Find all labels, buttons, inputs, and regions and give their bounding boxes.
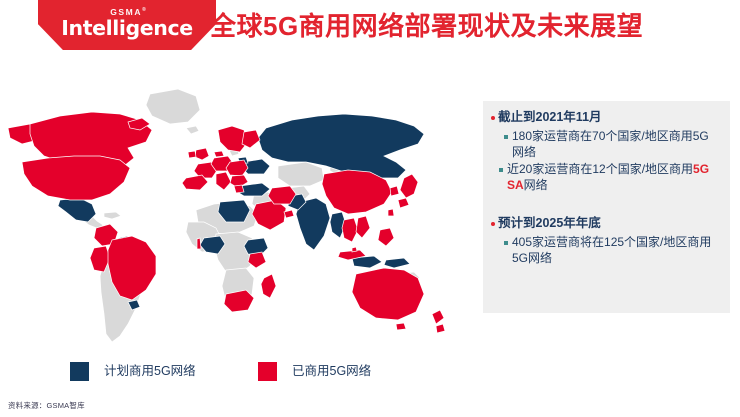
list-item: 近20家运营商在12个国家/地区商用5G SA网络 <box>491 162 720 193</box>
world-map <box>0 62 455 352</box>
stat-operators-2025: 405家运营商将在125个国家/地区商用5G网络 <box>512 235 720 266</box>
slide-root: GSMA® Intelligence 全球5G商用网络部署现状及未来展望 <box>0 0 740 417</box>
stat-sa-2021: 近20家运营商在12个国家/地区商用5G SA网络 <box>507 162 720 193</box>
bullet-square-icon <box>504 241 508 245</box>
bullet-square-icon <box>499 168 503 172</box>
legend-label-planned: 计划商用5G网络 <box>104 362 196 381</box>
legend-label-live: 已商用5G网络 <box>292 362 371 381</box>
logo-intelligence-wordmark: Intelligence <box>61 18 192 39</box>
stat-sa-2021-pre: 近20家运营商在12个国家/地区商用 <box>507 162 693 176</box>
logo-gsma-text: GSMA <box>110 7 142 17</box>
logo-trademark-icon: ® <box>142 7 146 13</box>
stats-block-2021-list: 180家运营商在70个国家/地区商用5G网络 近20家运营商在12个国家/地区商… <box>491 129 720 193</box>
bullet-dot-icon <box>491 222 495 226</box>
stats-block-2021: 截止到2021年11月 180家运营商在70个国家/地区商用5G网络 近20家运… <box>491 109 720 193</box>
map-legend: 计划商用5G网络 已商用5G网络 <box>70 362 410 384</box>
key-stats-panel: 截止到2021年11月 180家运营商在70个国家/地区商用5G网络 近20家运… <box>483 101 730 313</box>
stats-block-2021-heading: 截止到2021年11月 <box>491 109 720 126</box>
logo-gsma-wordmark: GSMA® <box>110 6 146 17</box>
logo-text-stack: GSMA® Intelligence <box>38 0 216 50</box>
legend-item-planned: 计划商用5G网络 <box>70 362 196 381</box>
legend-item-live: 已商用5G网络 <box>258 362 371 381</box>
stats-block-2025-heading: 预计到2025年年底 <box>491 215 720 232</box>
stats-block-2025: 预计到2025年年底 405家运营商将在125个国家/地区商用5G网络 <box>491 215 720 266</box>
stats-block-2025-heading-text: 预计到2025年年底 <box>498 215 601 232</box>
world-map-svg <box>0 62 455 352</box>
legend-swatch-live-icon <box>258 362 277 381</box>
bullet-square-icon <box>504 135 508 139</box>
stat-sa-2021-post: 网络 <box>524 178 548 192</box>
slide-header: GSMA® Intelligence 全球5G商用网络部署现状及未来展望 <box>0 0 740 56</box>
gsma-intelligence-logo: GSMA® Intelligence <box>38 0 216 50</box>
bullet-dot-icon <box>491 116 495 120</box>
stats-block-2025-list: 405家运营商将在125个国家/地区商用5G网络 <box>491 235 720 266</box>
page-title: 全球5G商用网络部署现状及未来展望 <box>210 10 643 42</box>
stats-block-2021-heading-text: 截止到2021年11月 <box>498 109 602 126</box>
list-item: 180家运营商在70个国家/地区商用5G网络 <box>491 129 720 160</box>
stat-operators-2021: 180家运营商在70个国家/地区商用5G网络 <box>512 129 720 160</box>
legend-swatch-planned-icon <box>70 362 89 381</box>
list-item: 405家运营商将在125个国家/地区商用5G网络 <box>491 235 720 266</box>
source-note: 资料来源：GSMA智库 <box>8 400 85 411</box>
